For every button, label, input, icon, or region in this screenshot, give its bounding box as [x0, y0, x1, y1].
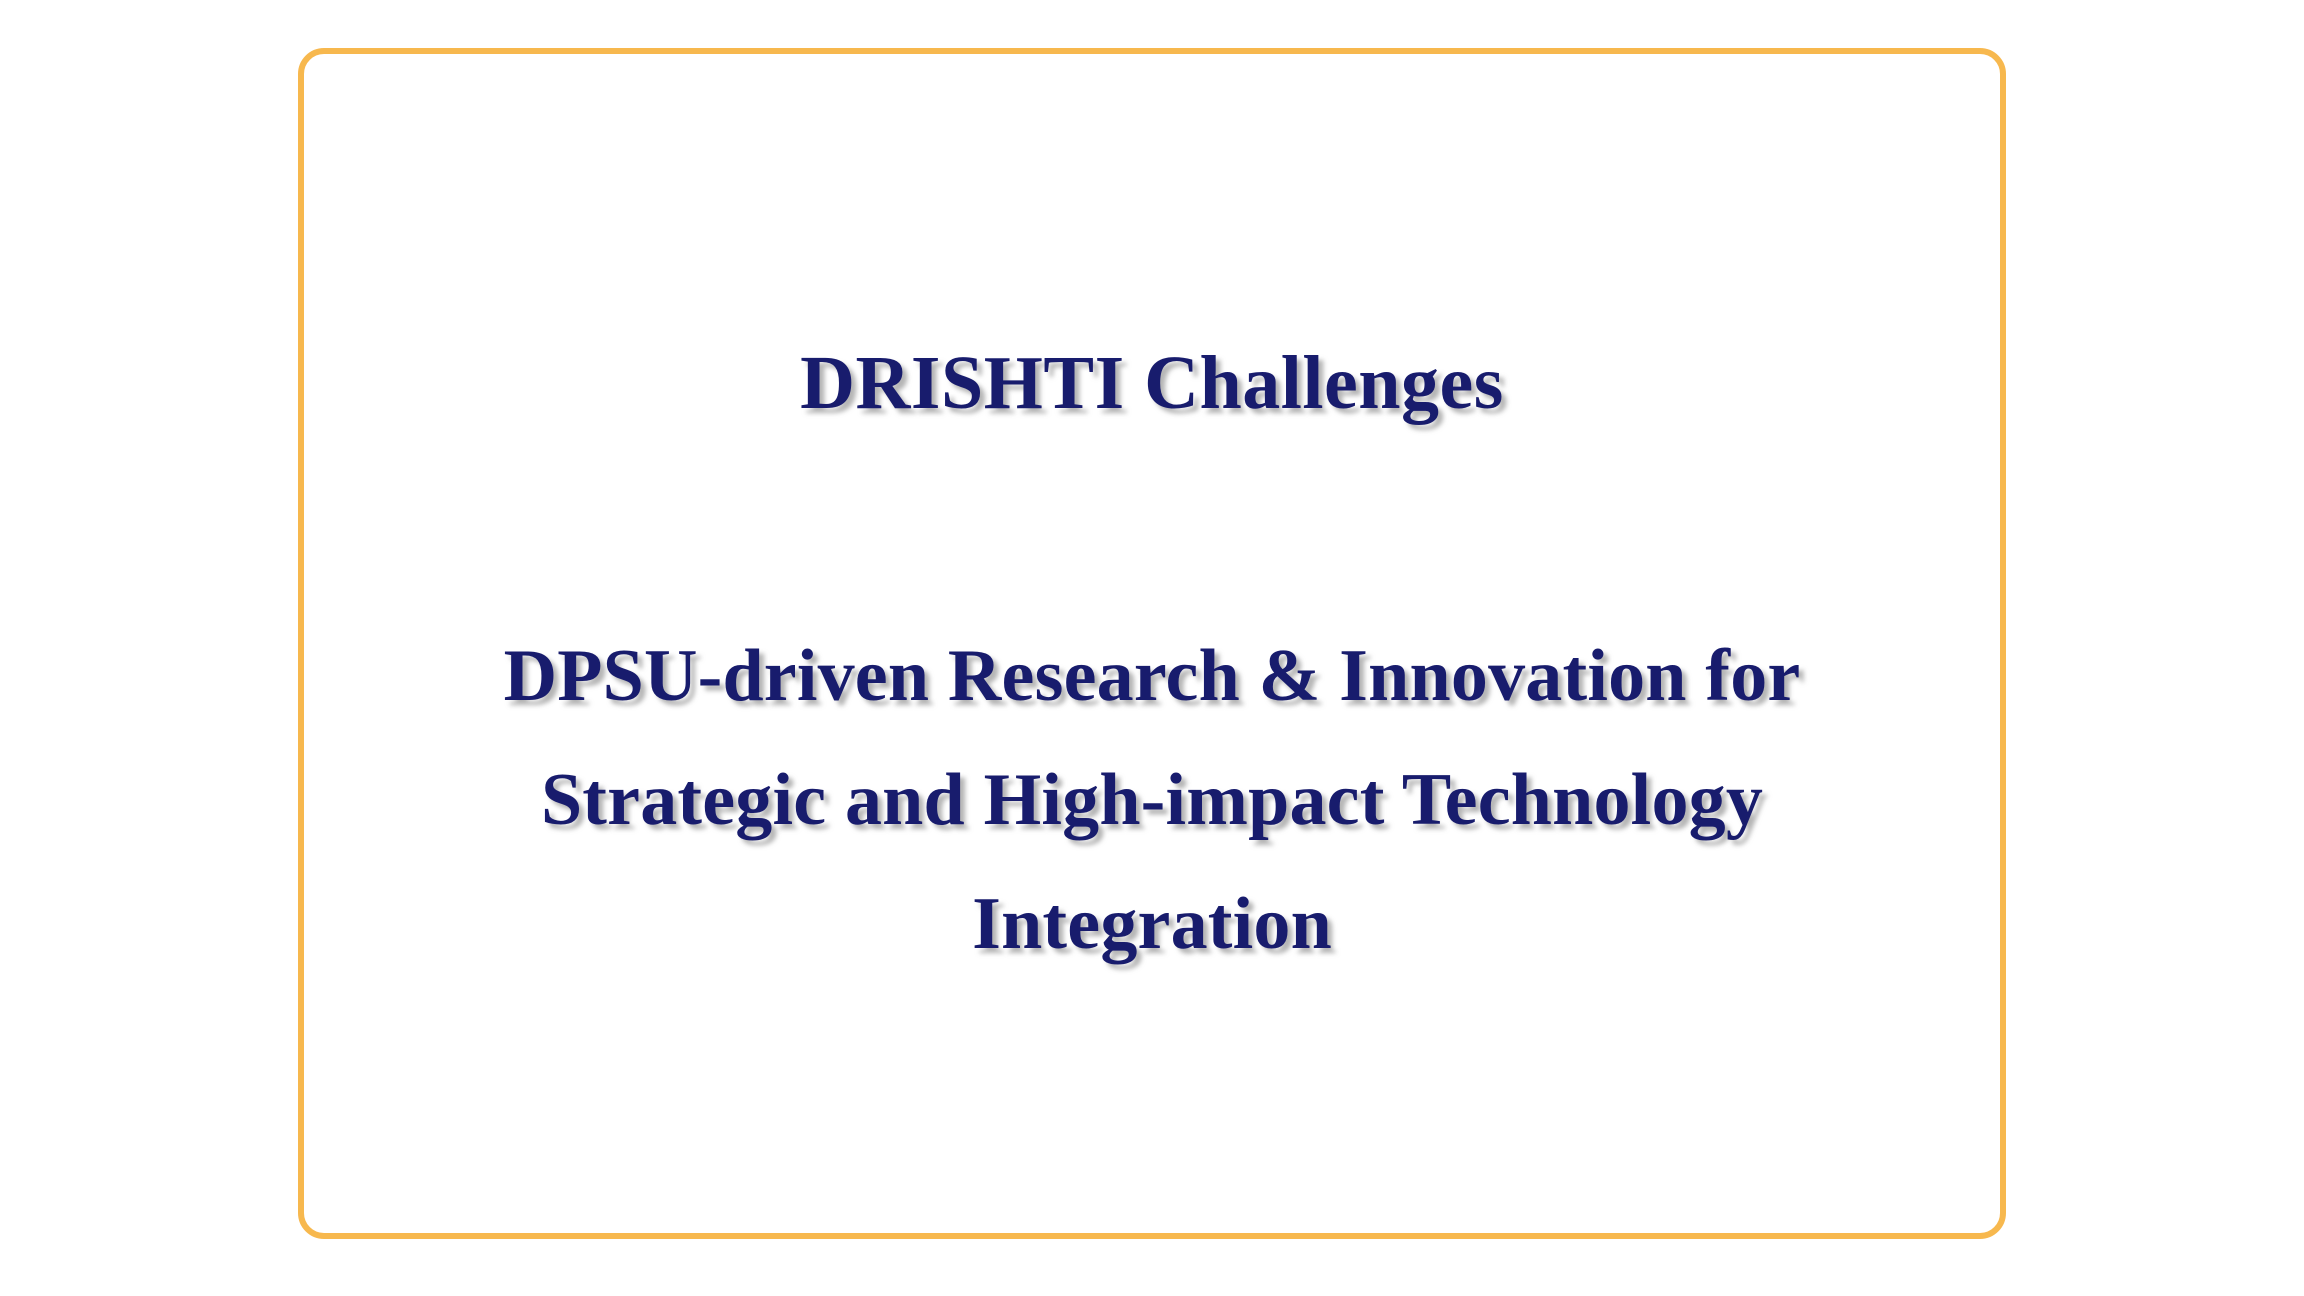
slide-title: DRISHTI Challenges [304, 344, 2000, 424]
subtitle-line-1: DPSU-driven Research & Innovation for [364, 614, 1940, 738]
subtitle-line-3: Integration [364, 862, 1940, 986]
slide-subtitle: DPSU-driven Research & Innovation for St… [364, 614, 1940, 986]
slide-border-frame: DRISHTI Challenges DPSU-driven Research … [298, 48, 2006, 1239]
slide-content: DRISHTI Challenges DPSU-driven Research … [304, 54, 2000, 1233]
slide-canvas: DRISHTI Challenges DPSU-driven Research … [0, 0, 2304, 1296]
subtitle-line-2: Strategic and High-impact Technology [364, 738, 1940, 862]
